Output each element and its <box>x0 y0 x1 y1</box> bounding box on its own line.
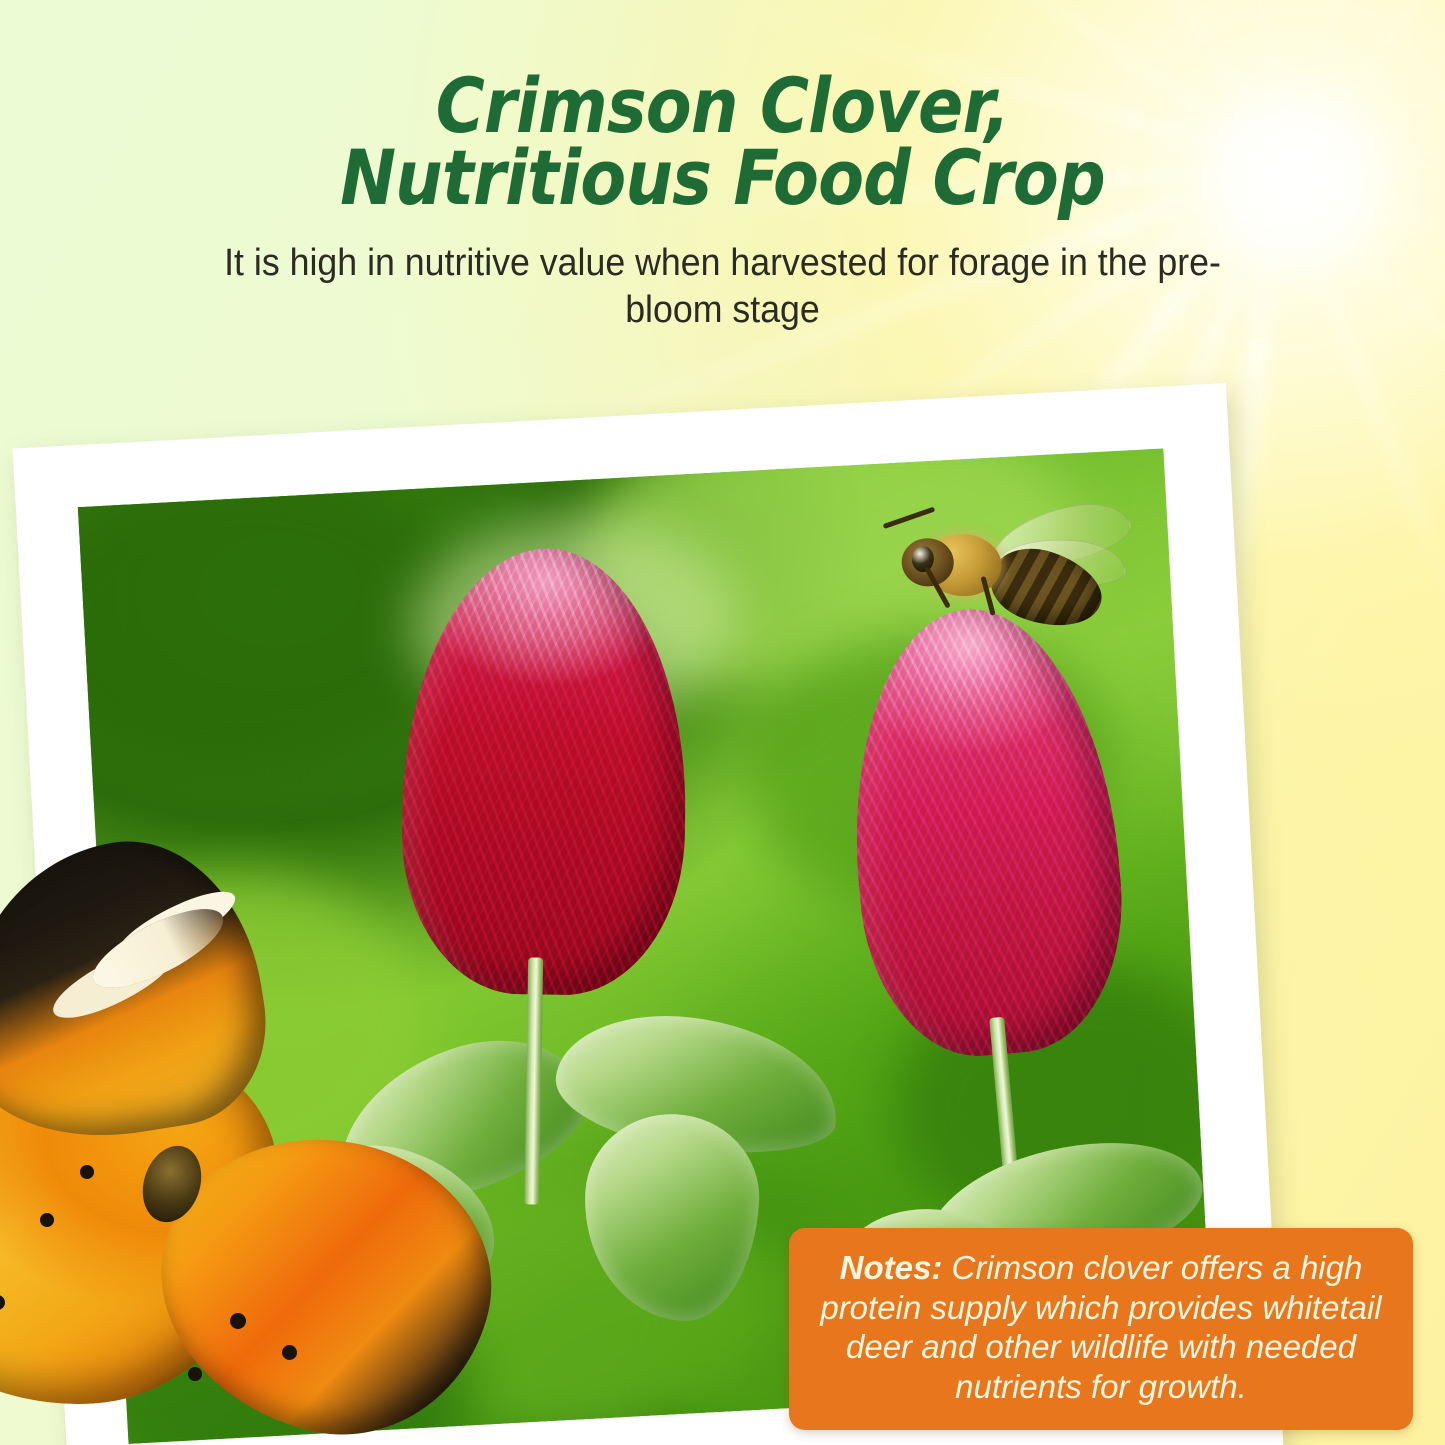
clover-stem <box>524 957 543 1205</box>
leopard-lacewing-butterfly <box>0 845 410 1445</box>
butterfly-spot <box>40 1213 54 1227</box>
page-title: Crimson Clover, Nutritious Food Crop <box>87 0 1359 214</box>
crimson-clover-flower-main <box>397 546 689 1169</box>
crimson-clover-flower-right <box>835 598 1150 1238</box>
butterfly-spot <box>80 1165 94 1179</box>
poster-text-block: Crimson Clover, Nutritious Food Crop It … <box>0 0 1445 333</box>
page-subtitle: It is high in nutritive value when harve… <box>43 214 1401 333</box>
poster-canvas: Crimson Clover, Nutritious Food Crop It … <box>0 0 1445 1445</box>
notes-text: Notes: Crimson clover offers a high prot… <box>815 1248 1387 1406</box>
page-title-line-2: Nutritious Food Crop <box>340 133 1105 222</box>
notes-label: Notes: <box>840 1249 943 1286</box>
notes-callout: Notes: Crimson clover offers a high prot… <box>789 1228 1413 1430</box>
clover-flower-head <box>400 546 690 996</box>
butterfly-spot <box>230 1313 246 1329</box>
clover-flower-head <box>835 598 1134 1065</box>
butterfly-spot <box>282 1345 297 1360</box>
butterfly-spot <box>188 1367 202 1381</box>
honeybee <box>906 508 1122 648</box>
